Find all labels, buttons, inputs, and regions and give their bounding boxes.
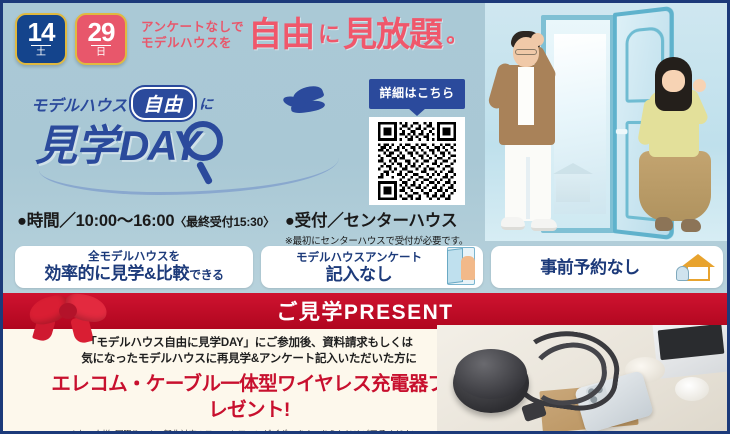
logo-jiyuu: 自由 xyxy=(131,87,195,120)
present-copy: 「モデルハウス自由に見学DAY」にご参加後、資料請求もしくは 気になったモデルハ… xyxy=(49,335,449,431)
date-badge-14: 14 土 xyxy=(15,13,67,65)
feature-box-2: モデルハウスアンケート 記入なし xyxy=(261,246,483,288)
headline-big-mihoudai: 見放題 xyxy=(343,17,442,53)
time-sub: 〈最終受付15:30〉 xyxy=(174,215,275,229)
feature-2-line2: 記入なし xyxy=(296,265,422,284)
headline-ni: に xyxy=(318,17,339,53)
headline-small: アンケートなしで モデルハウスを xyxy=(141,19,244,51)
logo-model-house: モデルハウス xyxy=(31,92,127,116)
time-label: ●時間／10:00〜16:00 xyxy=(17,212,174,230)
gift-headline: エレコム・ケーブル一体型ワイヤレス充電器プレゼント! xyxy=(49,371,449,423)
headline: アンケートなしで モデルハウスを 自由 に 見放題 。 xyxy=(141,17,467,53)
door-people-icon xyxy=(443,246,477,288)
door-knob xyxy=(616,129,628,134)
logo-kengaku: 見学 xyxy=(35,124,117,168)
magnifier-icon xyxy=(183,121,223,161)
date-dayofweek: 日 xyxy=(91,45,111,58)
present-bar: ご見学PRESENT xyxy=(3,293,727,329)
feature-box-1: 全モデルハウスを 効率的に見学&比較できる xyxy=(15,246,253,288)
top-section: 14 土 29 日 アンケートなしで モデルハウスを 自由 に 見放題 。 xyxy=(3,3,727,293)
present-copy-line2: 気になったモデルハウスに再見学&アンケート記入いただいた方に xyxy=(49,351,449,367)
details-button[interactable]: 詳細はこちら xyxy=(369,79,465,109)
present-fine-print: ※お一人様1回限り。※一部非対応のスマートフォンがございます。あらかじめご了承く… xyxy=(49,428,449,431)
qr-code-icon[interactable] xyxy=(369,117,465,205)
wireless-charger-photo xyxy=(437,325,727,431)
feature-3-line2: 事前予約なし xyxy=(540,258,640,277)
couple-door-photo xyxy=(485,3,727,241)
feature-1-line2-main: 効率的に見学&比較 xyxy=(44,264,189,283)
logo-ni: に xyxy=(199,94,213,114)
present-copy-line1: 「モデルハウス自由に見学DAY」にご参加後、資料請求もしくは xyxy=(49,335,449,351)
qr-code-svg xyxy=(374,122,460,200)
present-body: 「モデルハウス自由に見学DAY」にご参加後、資料請求もしくは 気になったモデルハ… xyxy=(3,329,727,431)
present-section: ご見学PRESENT 「モデルハウス自由に見学DAY」にご参加後、資料請求もしく… xyxy=(3,293,727,431)
feature-1-line1: 全モデルハウスを xyxy=(44,250,223,264)
woman-figure xyxy=(631,55,717,239)
present-title: ご見学PRESENT xyxy=(276,296,453,326)
date-number: 29 xyxy=(88,21,115,43)
headline-small-line2: モデルハウスを xyxy=(141,35,244,51)
date-dayofweek: 土 xyxy=(31,45,51,58)
date-badge-29: 29 日 xyxy=(75,13,127,65)
reception-note: ※最初にセンターハウスで受付が必要です。 xyxy=(285,233,468,247)
feature-box-3: 事前予約なし xyxy=(491,246,723,288)
banner-inner: 14 土 29 日 アンケートなしで モデルハウスを 自由 に 見放題 。 xyxy=(3,3,727,431)
feature-boxes: 全モデルハウスを 効率的に見学&比較できる モデルハウスアンケート 記入なし xyxy=(15,246,723,288)
reception-label: ●受付／センターハウス xyxy=(285,207,468,231)
dove-icon xyxy=(277,87,337,121)
house-person-icon xyxy=(683,246,717,288)
feature-1-line2: 効率的に見学&比較できる xyxy=(44,264,223,285)
promo-banner: 14 土 29 日 アンケートなしで モデルハウスを 自由 に 見放題 。 xyxy=(0,0,730,434)
event-dates: 14 土 29 日 xyxy=(15,13,127,65)
headline-big-jiyuu: 自由 xyxy=(248,17,314,53)
info-row: ●時間／10:00〜16:00〈最終受付15:30〉 ●受付／センターハウス ※… xyxy=(17,207,468,247)
reception-info: ●受付／センターハウス ※最初にセンターハウスで受付が必要です。 xyxy=(285,207,468,247)
qr-block[interactable]: 詳細はこちら xyxy=(369,79,465,205)
feature-1-line2-small: できる xyxy=(189,268,224,282)
headline-small-line1: アンケートなしで xyxy=(141,19,244,35)
date-number: 14 xyxy=(28,21,55,43)
time-info: ●時間／10:00〜16:00〈最終受付15:30〉 xyxy=(17,207,275,231)
headline-period: 。 xyxy=(446,17,467,53)
feature-2-line1: モデルハウスアンケート xyxy=(296,251,422,265)
man-figure xyxy=(491,27,569,237)
event-logo: モデルハウス 自由 に 見学 DAY xyxy=(31,87,351,187)
